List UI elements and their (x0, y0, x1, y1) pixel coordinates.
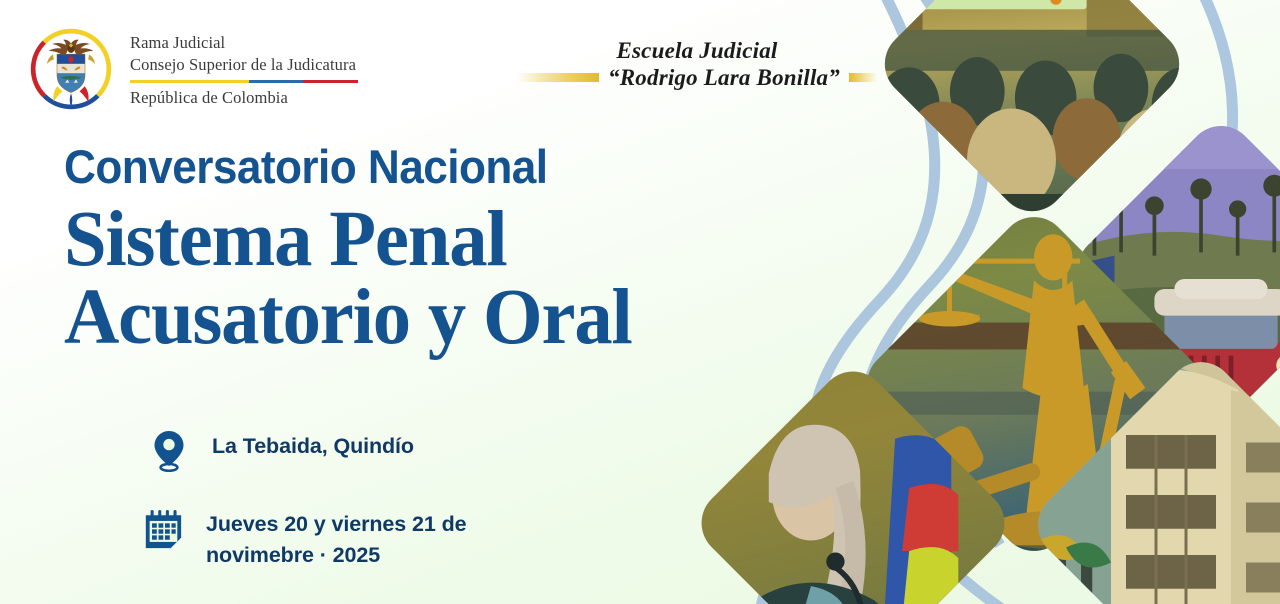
location-pin-icon (148, 428, 190, 472)
institution-text: Rama Judicial Consejo Superior de la Jud… (130, 30, 358, 107)
tricolor-red (303, 80, 358, 83)
institution-line-2: Consejo Superior de la Judicatura (130, 54, 358, 75)
event-date-row: Jueves 20 y viernes 21 de novimebre · 20… (142, 506, 506, 571)
event-title: Sistema Penal Acusatorio y Oral (64, 201, 632, 357)
event-title-line-1: Sistema Penal (64, 196, 506, 283)
tricolor-blue (249, 80, 304, 83)
institution-line-1: Rama Judicial (130, 32, 358, 53)
event-location-text: La Tebaida, Quindío (212, 428, 414, 462)
event-banner: Rama Judicial Consejo Superior de la Jud… (0, 0, 1280, 604)
escudo-de-colombia-icon (28, 26, 114, 112)
tricolor-yellow (130, 80, 249, 83)
photo-collage (700, 0, 1280, 604)
calendar-icon (142, 506, 184, 552)
event-title-block: Conversatorio Nacional Sistema Penal Acu… (64, 143, 649, 357)
event-title-line-2: Acusatorio y Oral (64, 279, 632, 356)
event-kicker: Conversatorio Nacional (64, 143, 614, 190)
institution-country: República de Colombia (130, 88, 358, 108)
institutional-lockup: Rama Judicial Consejo Superior de la Jud… (28, 26, 358, 112)
event-date-text: Jueves 20 y viernes 21 de novimebre · 20… (206, 506, 506, 571)
gold-accent-bar-left (517, 73, 599, 82)
tricolor-divider (130, 80, 358, 83)
event-location-row: La Tebaida, Quindío (148, 428, 414, 472)
